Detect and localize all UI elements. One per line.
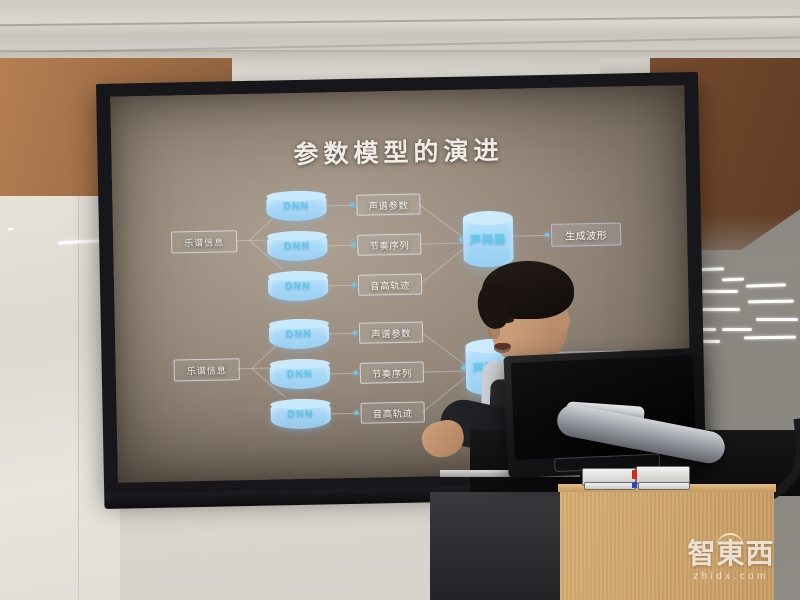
device-indicator-red — [632, 470, 637, 479]
presenter-mouth — [494, 343, 511, 353]
presentation-photo: 参数模型的演进 乐谱信息 DNN DNN DNN — [0, 0, 800, 600]
glass-stripe-decal — [756, 318, 798, 321]
glass-seam — [78, 196, 79, 600]
device-indicator-blue — [632, 482, 637, 488]
glass-stripe-decal — [722, 328, 752, 331]
presenter-hair-side — [475, 281, 511, 331]
podium-device — [638, 482, 690, 490]
glass-stripe-decal — [8, 228, 14, 230]
podium-device — [584, 482, 636, 490]
floor-shadow — [430, 492, 580, 600]
podium — [560, 488, 774, 600]
